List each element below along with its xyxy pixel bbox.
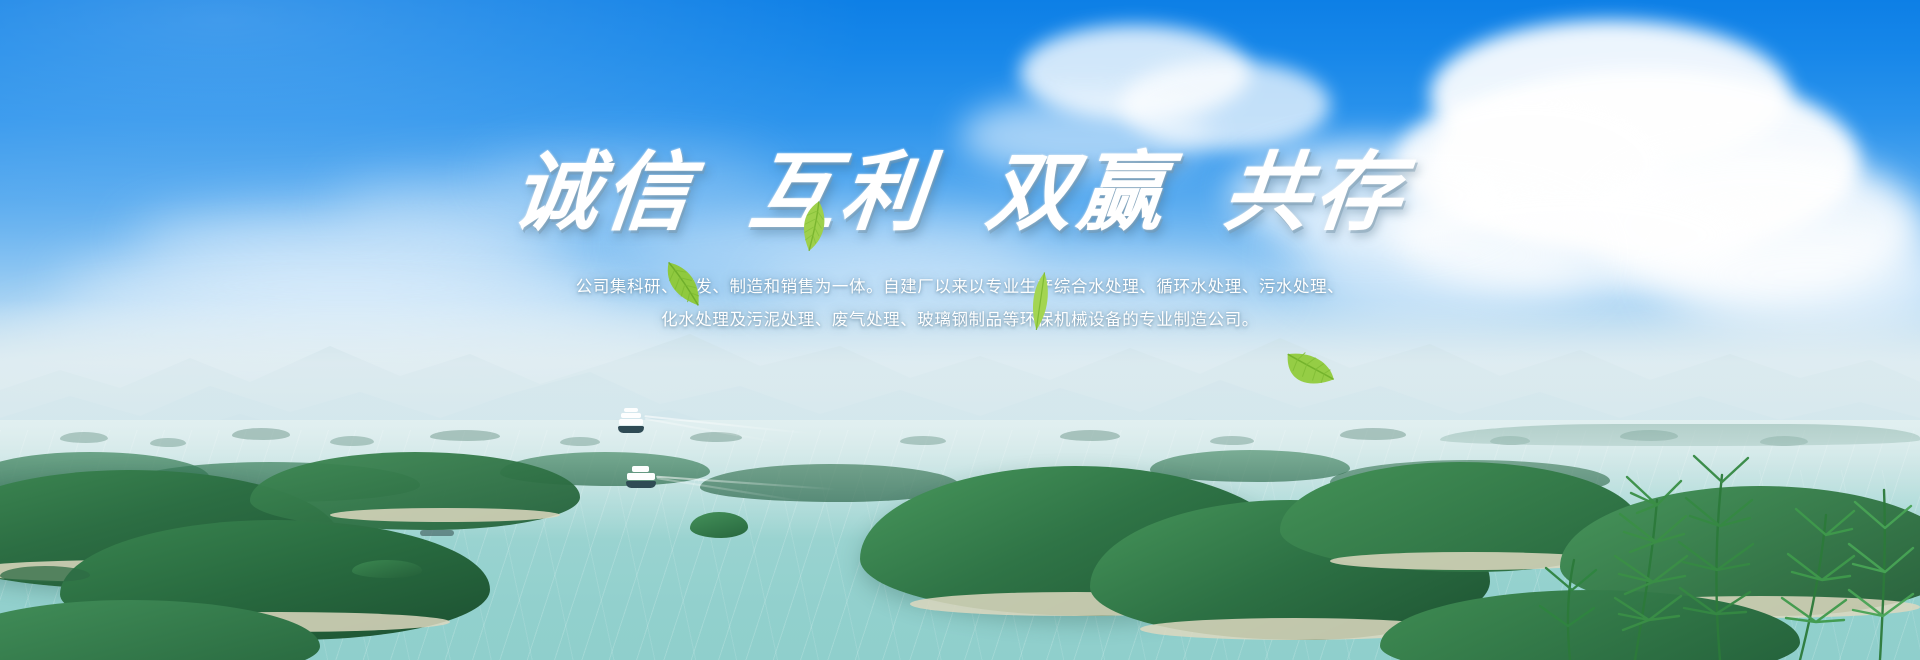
small-boat [420, 530, 454, 536]
island [352, 560, 422, 578]
subtitle-line-2: 化水处理及污泥处理、废气处理、玻璃钢制品等环保机械设备的专业制造公司。 [0, 303, 1920, 336]
hero-banner: 诚信 互利 双赢 共存 公司集科研、开发、制造和销售为一体。自建厂以来以专业生产… [0, 0, 1920, 660]
banner-copy: 诚信 互利 双赢 共存 公司集科研、开发、制造和销售为一体。自建厂以来以专业生产… [0, 150, 1920, 336]
headline-segment-3: 双赢 [983, 150, 1174, 236]
headline-segment-2: 互利 [746, 150, 937, 236]
passenger-boat-lower [626, 466, 656, 492]
island [1210, 436, 1254, 445]
island [330, 436, 374, 446]
island [430, 430, 500, 441]
island [1060, 430, 1120, 441]
banner-headline: 诚信 互利 双赢 共存 [495, 150, 1425, 236]
island [232, 428, 290, 440]
island [1340, 428, 1406, 440]
island [0, 566, 90, 582]
island [690, 512, 748, 538]
banner-subtitle: 公司集科研、开发、制造和销售为一体。自建厂以来以专业生产综合水处理、循环水处理、… [0, 270, 1920, 336]
headline-segment-1: 诚信 [509, 150, 700, 236]
island [900, 436, 946, 445]
island [60, 432, 108, 443]
island [560, 437, 600, 446]
island-shore [330, 508, 560, 522]
island [150, 438, 186, 447]
subtitle-line-1: 公司集科研、开发、制造和销售为一体。自建厂以来以专业生产综合水处理、循环水处理、… [0, 270, 1920, 303]
shoreline-far-right [1440, 424, 1920, 446]
passenger-boat-upper [618, 408, 644, 438]
headline-segment-4: 共存 [1220, 150, 1411, 236]
